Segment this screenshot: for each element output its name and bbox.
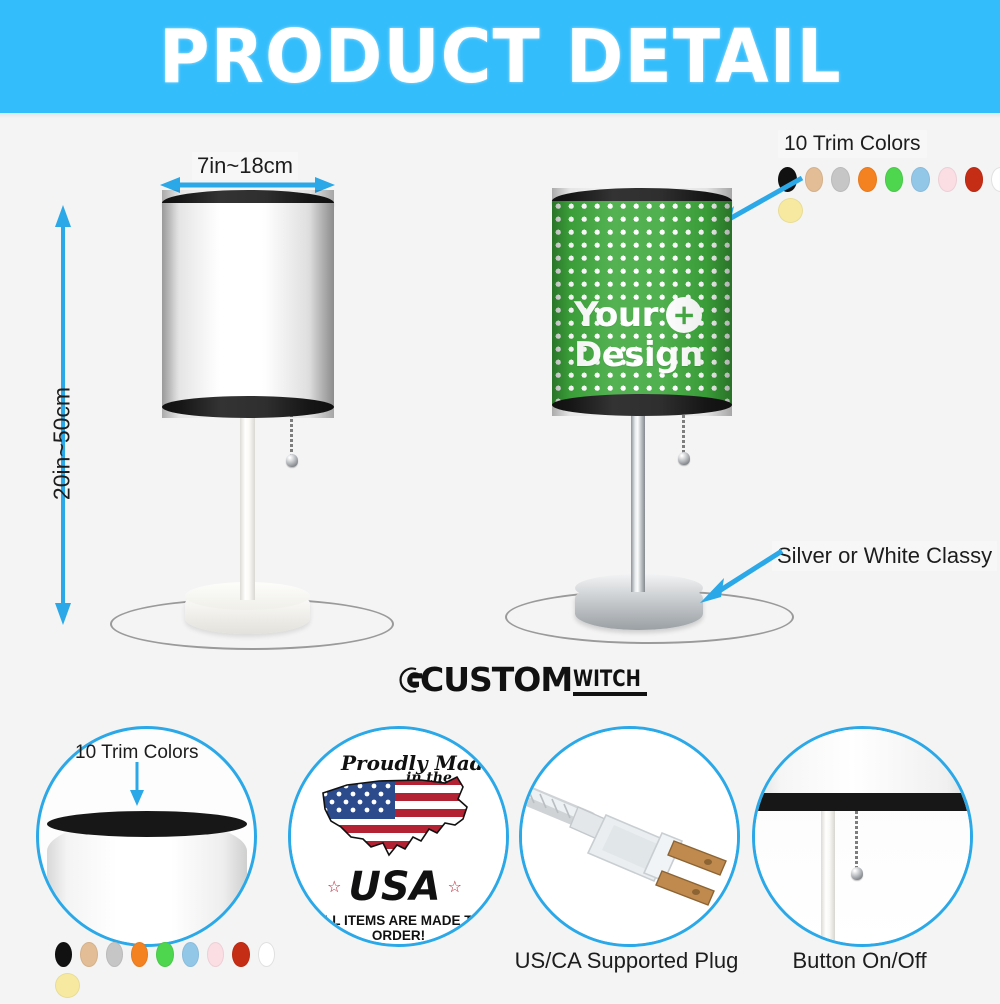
trim-swatch-black[interactable] [55, 942, 72, 967]
shade-trim-bottom [552, 394, 732, 416]
pull-chain-ball[interactable] [678, 452, 690, 465]
power-plug-icon [522, 729, 737, 944]
trim-color-swatches-bottom [55, 942, 275, 1004]
logo-sub-text: WITCH [573, 668, 641, 691]
pull-chain-silver[interactable] [682, 410, 685, 454]
feature-circle-switch [752, 726, 973, 947]
pull-chain-switch[interactable] [855, 811, 858, 869]
star-left-icon: ☆ [327, 877, 341, 897]
trim-swatch-yellow[interactable] [55, 973, 80, 998]
usa-map-flag-icon [317, 771, 482, 871]
infographic-canvas: PRODUCT DETAIL 10 Trim Colors 7in~18cm 2… [0, 0, 1000, 1000]
usa-word-row: ☆ USA ☆ [327, 867, 462, 907]
pull-chain-ball[interactable] [286, 454, 298, 467]
swatch-row [778, 167, 1000, 192]
lamp-shade-green: Your + Design [552, 188, 732, 416]
shade-trim-fragment [752, 793, 973, 811]
usa-word: USA [348, 867, 440, 907]
your-design-text: Your + Design [574, 295, 703, 375]
page-title: PRODUCT DETAIL [159, 14, 842, 100]
white-lamp [120, 190, 380, 650]
brand-logo: CUSTOM WITCH [395, 663, 647, 696]
trim-swatch-orange[interactable] [131, 942, 148, 967]
trim-swatch-gray[interactable] [831, 167, 850, 192]
shade-surface-white [162, 203, 334, 407]
lamp-shade-white [162, 190, 334, 418]
trim-colors-down-arrow [128, 762, 146, 806]
pull-chain-white[interactable] [290, 414, 293, 456]
trim-swatch-gray[interactable] [106, 942, 123, 967]
trim-swatch-white[interactable] [991, 167, 1000, 192]
trim-swatch-white[interactable] [258, 942, 275, 967]
height-dimension-label: 20in~50cm [49, 374, 76, 514]
plug-caption: US/CA Supported Plug [499, 948, 754, 974]
shade-trim-bottom [162, 396, 334, 418]
trim-swatch-tan[interactable] [80, 942, 97, 967]
swatch-row [55, 942, 275, 967]
shade-surface-green: Your + Design [552, 201, 732, 405]
banner-shadow [0, 113, 1000, 118]
trim-colors-label-circle: 10 Trim Colors [75, 742, 199, 764]
trim-swatch-pink[interactable] [938, 167, 957, 192]
plus-circle-icon: + [666, 297, 702, 333]
lamp-pole-white [240, 415, 255, 600]
design-line-2: Design [574, 335, 703, 375]
swatch-row [55, 973, 275, 998]
trim-swatch-red[interactable] [232, 942, 249, 967]
trim-swatch-red[interactable] [965, 167, 984, 192]
swatch-row [778, 198, 1000, 223]
trim-swatch-green[interactable] [156, 942, 173, 967]
pull-chain-ball[interactable] [851, 867, 863, 880]
lamp-pole-silver [631, 412, 645, 592]
base-finish-label: Silver or White Classy [772, 541, 997, 571]
switch-caption: Button On/Off [752, 948, 967, 974]
trim-swatch-light-blue[interactable] [182, 942, 199, 967]
trim-swatch-pink[interactable] [207, 942, 224, 967]
feature-circle-plug [519, 726, 740, 947]
design-line-1: Your [574, 295, 658, 335]
trim-swatch-green[interactable] [885, 167, 904, 192]
shade-fragment-trim [47, 811, 247, 837]
trim-colors-label-top: 10 Trim Colors [778, 130, 927, 158]
shade-fragment-white [47, 819, 247, 947]
logo-underline [573, 692, 647, 696]
logo-main-text: CUSTOM [420, 663, 572, 696]
trim-color-swatches-top [778, 167, 1000, 229]
base-finish-arrow [690, 545, 790, 605]
usa-badge-footer: ALL ITEMS ARE MADE TO ORDER! [291, 913, 506, 943]
trim-swatch-orange[interactable] [858, 167, 877, 192]
lamp-pole-fragment [821, 811, 835, 944]
feature-circle-made-in-usa: Proudly Made in the [288, 726, 509, 947]
trim-swatch-light-blue[interactable] [911, 167, 930, 192]
shade-fragment-bottom [752, 726, 973, 797]
star-right-icon: ☆ [448, 877, 462, 897]
header-banner: PRODUCT DETAIL [0, 0, 1000, 113]
